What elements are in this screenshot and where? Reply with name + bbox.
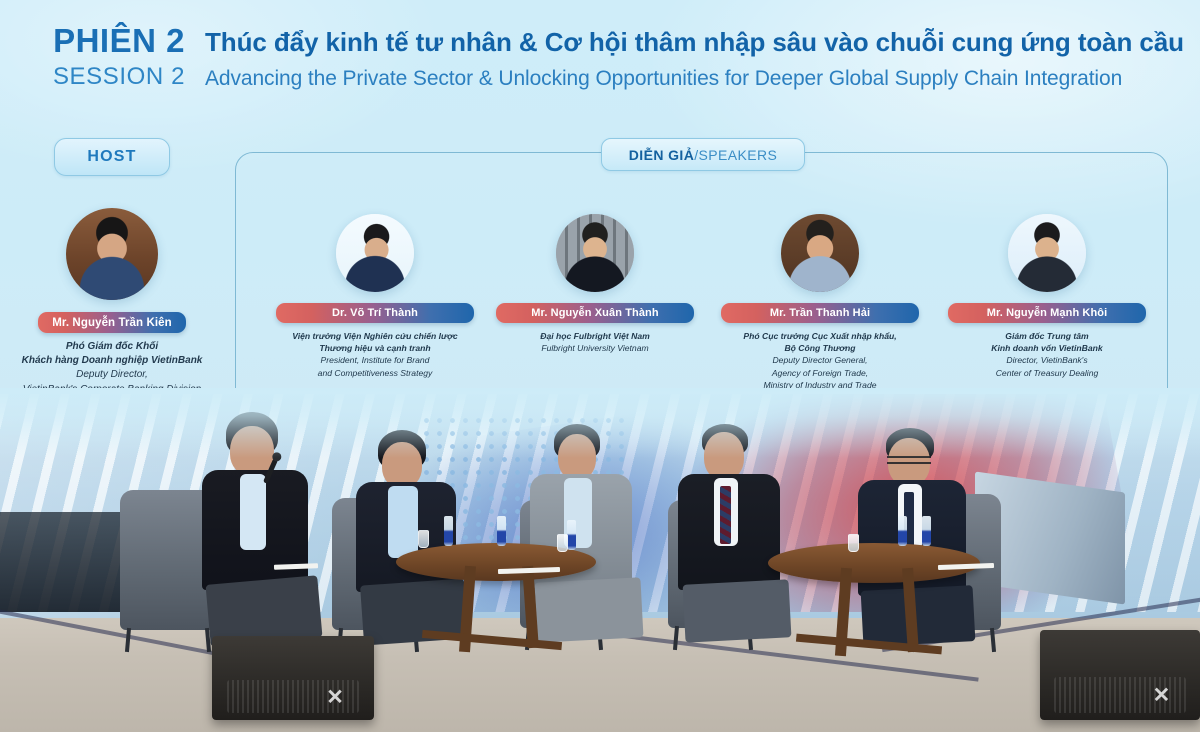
- speaker-2-role-en-1: Fulbright University Vietnam: [496, 342, 694, 354]
- speaker-2-role-vi-1: Đại học Fulbright Việt Nam: [496, 330, 694, 342]
- host-role-vi-1: Phó Giám đốc Khối: [12, 340, 212, 354]
- speaker-1-role-vi-2: Thương hiệu và cạnh tranh: [276, 342, 474, 354]
- panelist: [856, 428, 980, 642]
- speaker-3-name-badge: Mr. Trần Thanh Hải: [721, 303, 919, 323]
- session-label-block: PHIÊN 2 SESSION 2: [44, 24, 194, 92]
- speaker-1-role-en-2: and Competitiveness Strategy: [276, 367, 474, 379]
- drinking-glass: [418, 530, 429, 548]
- host-role-en-1: Deputy Director,: [12, 368, 212, 382]
- session-slide: PHIÊN 2 SESSION 2 Thúc đẩy kinh tế tư nh…: [0, 0, 1200, 732]
- speaker-1-role-en-1: President, Institute for Brand: [276, 354, 474, 366]
- speakers-badge: DIỄN GIẢ /SPEAKERS: [601, 138, 805, 171]
- speaker-3-role: Phó Cục trưởng Cục Xuất nhập khẩu, Bộ Cô…: [721, 330, 919, 391]
- host-portrait: [66, 208, 158, 300]
- panelist-legs: [535, 577, 644, 642]
- photo-top-fade: [0, 388, 1200, 458]
- speaker-2-name: Mr. Nguyễn Xuân Thành: [531, 307, 658, 319]
- speaker-1-name: Dr. Võ Trí Thành: [332, 307, 418, 319]
- speaker-3-role-en-1: Deputy Director General,: [721, 354, 919, 366]
- speaker-4-role-vi-1: Giám đốc Trung tâm: [948, 330, 1146, 342]
- host-name: Mr. Nguyễn Trần Kiên: [52, 317, 172, 329]
- necktie: [720, 486, 731, 544]
- speaker-3-portrait: [781, 214, 859, 292]
- speaker-4-role: Giám đốc Trung tâm Kinh doanh vốn Vietin…: [948, 330, 1146, 379]
- stage-monitor-speaker: ✕: [212, 636, 374, 720]
- speaker-2-portrait: [556, 214, 634, 292]
- session-title-vi: Thúc đẩy kinh tế tư nhân & Cơ hội thâm n…: [205, 26, 1182, 59]
- speaker-card-3: Mr. Trần Thanh Hải Phó Cục trưởng Cục Xu…: [721, 214, 919, 391]
- stage-monitor-speaker: ✕: [1040, 630, 1200, 720]
- speaker-1-role: Viện trưởng Viện Nghiên cứu chiến lược T…: [276, 330, 474, 379]
- avatar: [781, 214, 859, 292]
- speaker-4-role-en-2: Center of Treasury Dealing: [948, 367, 1146, 379]
- session-title-en: Advancing the Private Sector & Unlocking…: [205, 65, 1182, 92]
- title-block: Thúc đẩy kinh tế tư nhân & Cơ hội thâm n…: [205, 26, 1182, 92]
- avatar: [556, 214, 634, 292]
- session-label-vi: PHIÊN 2: [44, 24, 194, 59]
- host-badge: HOST: [54, 138, 170, 176]
- host-role-vi-2: Khách hàng Doanh nghiệp VietinBank: [12, 354, 212, 368]
- speaker-3-name: Mr. Trần Thanh Hải: [770, 307, 870, 319]
- avatar: [336, 214, 414, 292]
- speaker-2-role: Đại học Fulbright Việt Nam Fulbright Uni…: [496, 330, 694, 354]
- x-logo-icon: ✕: [322, 686, 348, 710]
- speaker-1-role-vi-1: Viện trưởng Viện Nghiên cứu chiến lược: [276, 330, 474, 342]
- drinking-glass: [848, 534, 859, 552]
- water-bottle: [444, 516, 453, 546]
- paper-note: [274, 563, 318, 570]
- header: PHIÊN 2 SESSION 2 Thúc đẩy kinh tế tư nh…: [0, 0, 1200, 120]
- host-badge-label: HOST: [87, 148, 136, 166]
- x-logo-icon: ✕: [1148, 684, 1174, 708]
- panel-photo: ✕ ✕: [0, 388, 1200, 732]
- water-bottle: [898, 516, 907, 546]
- speaker-4-name: Mr. Nguyễn Mạnh Khôi: [987, 307, 1108, 319]
- speaker-4-name-badge: Mr. Nguyễn Mạnh Khôi: [948, 303, 1146, 323]
- host-name-badge: Mr. Nguyễn Trần Kiên: [38, 312, 186, 333]
- panelist-shirt: [240, 474, 266, 550]
- water-bottle: [497, 516, 506, 546]
- speaker-3-role-vi-2: Bộ Công Thương: [721, 342, 919, 354]
- avatar: [1008, 214, 1086, 292]
- speaker-4-portrait: [1008, 214, 1086, 292]
- speaker-2-name-badge: Mr. Nguyễn Xuân Thành: [496, 303, 694, 323]
- avatar: [66, 208, 158, 300]
- speaker-4-role-en-1: Director, VietinBank's: [948, 354, 1146, 366]
- host-person-card: Mr. Nguyễn Trần Kiên Phó Giám đốc Khối K…: [12, 208, 212, 397]
- speakers-badge-label-vi: DIỄN GIẢ: [629, 147, 694, 163]
- drinking-glass: [557, 534, 568, 552]
- speaker-1-name-badge: Dr. Võ Trí Thành: [276, 303, 474, 323]
- water-bottle: [922, 516, 931, 546]
- coffee-table: [768, 543, 980, 583]
- session-label-en: SESSION 2: [44, 62, 194, 92]
- speaker-card-1: Dr. Võ Trí Thành Viện trưởng Viện Nghiên…: [276, 214, 474, 379]
- panelist-shirt: [388, 486, 418, 558]
- speaker-card-2: Mr. Nguyễn Xuân Thành Đại học Fulbright …: [496, 214, 694, 354]
- speaker-4-role-vi-2: Kinh doanh vốn VietinBank: [948, 342, 1146, 354]
- speaker-3-role-en-2: Agency of Foreign Trade,: [721, 367, 919, 379]
- water-bottle: [567, 520, 576, 550]
- speakers-badge-label-en: /SPEAKERS: [694, 147, 777, 163]
- speaker-1-portrait: [336, 214, 414, 292]
- speaker-3-role-vi-1: Phó Cục trưởng Cục Xuất nhập khẩu,: [721, 330, 919, 342]
- panelist-legs: [683, 579, 792, 642]
- speaker-card-4: Mr. Nguyễn Mạnh Khôi Giám đốc Trung tâm …: [948, 214, 1146, 379]
